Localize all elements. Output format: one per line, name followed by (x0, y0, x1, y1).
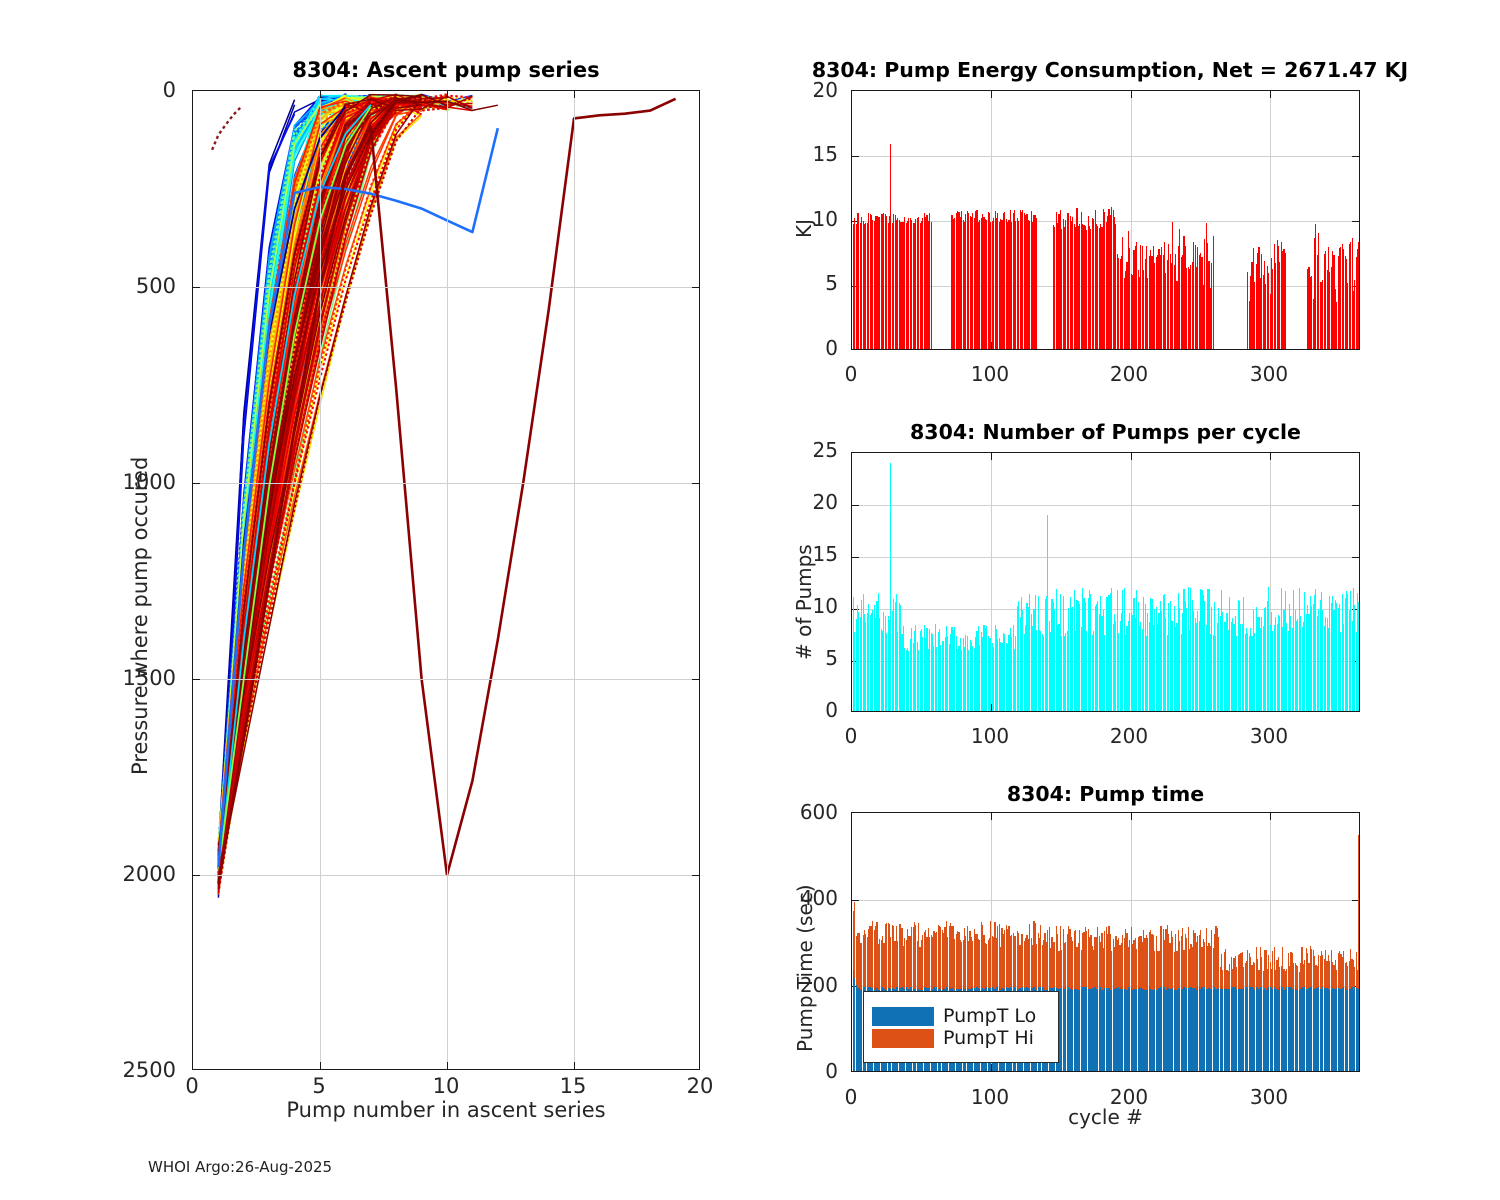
legend-label-pumpt-lo: PumpT Lo (943, 1007, 1036, 1026)
energy-ytick-10: 10 (786, 207, 838, 231)
ascent-tickmark-y1000r (692, 483, 699, 484)
pumptime-ytick-200: 200 (778, 973, 838, 997)
ascent-tickmark-y1000 (193, 483, 200, 484)
pumps-xtick-100: 100 (965, 724, 1015, 748)
pumptime-xtick-100: 100 (965, 1085, 1015, 1109)
legend-item-pumpt-lo: PumpT Lo (872, 1007, 1050, 1026)
legend-label-pumpt-hi: PumpT Hi (943, 1029, 1034, 1048)
ascent-gridline-x5 (320, 91, 321, 1069)
pumps-ytick-5: 5 (786, 646, 838, 670)
bar-pumpt-hi (1358, 835, 1359, 990)
ascent-tickmark-x15 (574, 1062, 575, 1069)
pumps-xtick-200: 200 (1104, 724, 1154, 748)
pumptime-axes: PumpT Lo PumpT Hi (851, 812, 1360, 1072)
ascent-tickmark-x15t (574, 91, 575, 98)
pumps-axes (851, 452, 1360, 712)
energy-ytick-15: 15 (786, 142, 838, 166)
legend-item-pumpt-hi: PumpT Hi (872, 1029, 1050, 1048)
pumptime-xtick-300: 300 (1244, 1085, 1294, 1109)
pumps-ytick-10: 10 (786, 594, 838, 618)
ascent-tickmark-x5 (320, 1062, 321, 1069)
pumps-xtick-300: 300 (1244, 724, 1294, 748)
ascent-ytick-2000: 2000 (118, 862, 176, 886)
pumptime-ytick-0: 0 (778, 1059, 838, 1083)
pumptime-xtick-200: 200 (1104, 1085, 1154, 1109)
ascent-tickmark-y2000r (692, 875, 699, 876)
figure-footer: WHOI Argo:26-Aug-2025 (148, 1158, 332, 1176)
bar (1358, 242, 1359, 349)
ascent-ytick-0: 0 (118, 78, 176, 102)
pumps-ytick-25: 25 (786, 438, 838, 462)
ascent-axes (192, 90, 700, 1070)
pumps-ytick-20: 20 (786, 490, 838, 514)
bar-pumpt-lo (1358, 989, 1359, 1071)
ascent-tickmark-x10 (447, 1062, 448, 1069)
ascent-ytick-1500: 1500 (118, 666, 176, 690)
energy-ytick-5: 5 (786, 271, 838, 295)
figure-canvas: 8304: Ascent pump series Pressure where … (0, 0, 1500, 1200)
energy-axes (851, 90, 1360, 350)
pumptime-panel-title: 8304: Pump time (851, 782, 1360, 806)
energy-xtick-0: 0 (826, 362, 876, 386)
ascent-gridline-y2000 (193, 875, 699, 876)
bar (1213, 236, 1214, 349)
pumps-bar-group (852, 453, 1359, 711)
ascent-x-axis-label: Pump number in ascent series (192, 1098, 700, 1122)
ascent-tickmark-y500 (193, 287, 200, 288)
ascent-xtick-15: 15 (548, 1074, 598, 1098)
ascent-xtick-0: 0 (167, 1074, 217, 1098)
ascent-panel-title: 8304: Ascent pump series (192, 58, 700, 82)
ascent-ytick-500: 500 (118, 274, 176, 298)
ascent-tickmark-x10t (447, 91, 448, 98)
ascent-tickmark-y500r (692, 287, 699, 288)
ascent-xtick-5: 5 (294, 1074, 344, 1098)
ascent-tickmark-y2000 (193, 875, 200, 876)
ascent-xtick-20: 20 (675, 1074, 725, 1098)
energy-xtick-300: 300 (1244, 362, 1294, 386)
pumps-panel-title: 8304: Number of Pumps per cycle (851, 420, 1360, 444)
bar (1036, 218, 1037, 349)
pumptime-ytick-400: 400 (778, 886, 838, 910)
ascent-gridline-y1500 (193, 679, 699, 680)
ascent-gridline-y1000 (193, 483, 699, 484)
ascent-gridline-y500 (193, 287, 699, 288)
ascent-tickmark-y1500r (692, 679, 699, 680)
ascent-tickmark-y1500 (193, 679, 200, 680)
pumps-xtick-0: 0 (826, 724, 876, 748)
pumps-ytick-15: 15 (786, 542, 838, 566)
energy-xtick-200: 200 (1104, 362, 1154, 386)
pumps-ytick-0: 0 (786, 698, 838, 722)
ascent-ytick-1000: 1000 (118, 470, 176, 494)
ascent-tickmark-x5t (320, 91, 321, 98)
legend-swatch-pumpt-hi (872, 1029, 934, 1048)
bar (1285, 253, 1286, 349)
legend-swatch-pumpt-lo (872, 1007, 934, 1026)
pumptime-ytick-600: 600 (778, 800, 838, 824)
bar (931, 222, 932, 349)
ascent-gridline-x10 (447, 91, 448, 1069)
energy-panel-title: 8304: Pump Energy Consumption, Net = 267… (760, 58, 1460, 82)
energy-ytick-0: 0 (786, 336, 838, 360)
bar (1358, 602, 1359, 711)
energy-ytick-20: 20 (786, 78, 838, 102)
pumptime-legend: PumpT Lo PumpT Hi (863, 991, 1059, 1063)
ascent-gridline-x15 (574, 91, 575, 1069)
energy-bar-group (852, 91, 1359, 349)
ascent-xtick-10: 10 (421, 1074, 471, 1098)
energy-xtick-100: 100 (965, 362, 1015, 386)
ascent-y-axis-label: Pressure where pump occured (128, 457, 152, 775)
pumptime-xtick-0: 0 (826, 1085, 876, 1109)
